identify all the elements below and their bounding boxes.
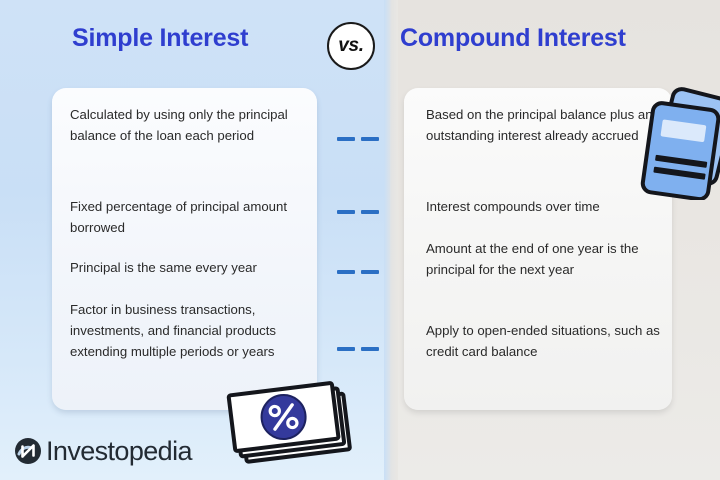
divider-dash-row	[337, 137, 381, 143]
list-item: Interest compounds over time	[426, 196, 662, 217]
dash-mark	[361, 137, 379, 141]
dash-mark	[361, 270, 379, 274]
dash-mark	[337, 210, 355, 214]
dash-mark	[337, 347, 355, 351]
list-item: Factor in business transactions, investm…	[70, 299, 305, 362]
list-item: Calculated by using only the principal b…	[70, 104, 305, 146]
dash-mark	[361, 210, 379, 214]
background-seam	[384, 0, 398, 480]
compound-interest-panel: Based on the principal balance plus any …	[404, 88, 672, 410]
investopedia-wordmark: Investopedia	[46, 438, 192, 465]
dash-mark	[337, 270, 355, 274]
list-item: Based on the principal balance plus any …	[426, 104, 662, 146]
list-item: Fixed percentage of principal amount bor…	[70, 196, 305, 238]
left-column-title: Simple Interest	[72, 24, 248, 53]
vs-badge: vs.	[327, 22, 375, 70]
list-item: Amount at the end of one year is the pri…	[426, 238, 662, 280]
divider-dash-row	[337, 270, 381, 276]
credit-cards-icon	[634, 84, 720, 200]
dash-mark	[337, 137, 355, 141]
divider-dash-row	[337, 210, 381, 216]
simple-interest-panel: Calculated by using only the principal b…	[52, 88, 317, 410]
infographic-canvas: Simple Interest vs. Compound Interest Ca…	[0, 0, 720, 480]
right-column-title: Compound Interest	[400, 24, 626, 53]
investopedia-logo-icon	[14, 437, 42, 465]
vs-badge-label: vs.	[338, 35, 364, 57]
investopedia-logo: Investopedia	[14, 437, 192, 465]
list-item: Apply to open-ended situations, such as …	[426, 320, 662, 362]
list-item: Principal is the same every year	[70, 257, 305, 278]
money-percent-icon	[224, 372, 360, 468]
divider-dash-row	[337, 347, 381, 353]
dash-mark	[361, 347, 379, 351]
